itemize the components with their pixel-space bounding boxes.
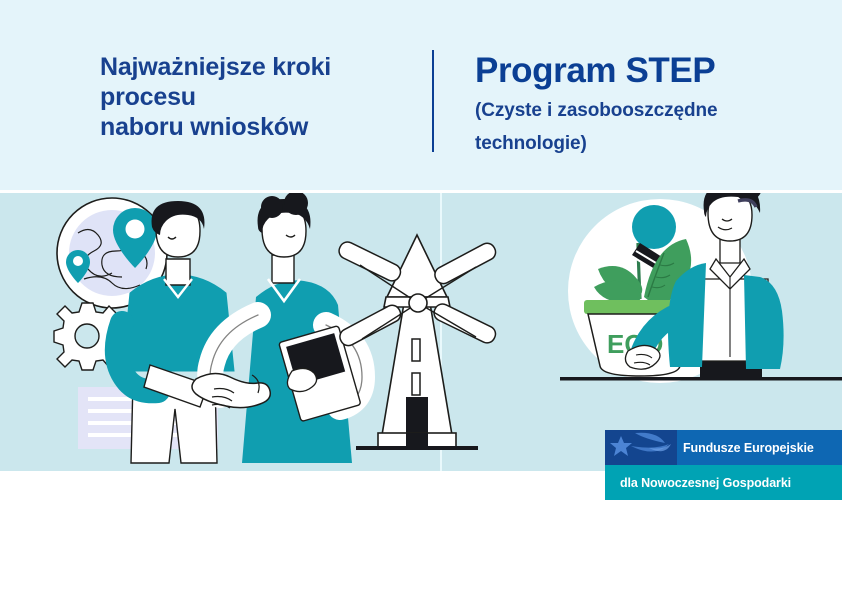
fe-banner-top-band: Fundusze Europejskie xyxy=(605,430,842,465)
program-title: Program STEP xyxy=(475,50,815,92)
title-left-line-3: naboru wniosków xyxy=(100,112,410,142)
eco-scene: ECO xyxy=(560,193,842,383)
fe-banner-line-2: dla Nowoczesnej Gospodarki xyxy=(620,476,791,490)
person-right xyxy=(210,193,362,463)
program-subtitle-line-2: technologie) xyxy=(475,130,815,158)
title-left-line-2: procesu xyxy=(100,82,410,112)
header-section: Najważniejsze kroki procesu naboru wnios… xyxy=(0,0,842,190)
fe-banner-bottom-band: dla Nowoczesnej Gospodarki xyxy=(605,465,842,500)
program-subtitle-line-1: (Czyste i zasobooszczędne xyxy=(475,97,815,125)
fe-banner-line-1: Fundusze Europejskie xyxy=(683,430,814,465)
program-title-block: Program STEP (Czyste i zasobooszczędne t… xyxy=(475,50,815,158)
header-vertical-divider xyxy=(432,50,434,152)
fundusze-europejskie-banner: Fundusze Europejskie dla Nowoczesnej Gos… xyxy=(605,430,842,500)
poster-page: Najważniejsze kroki procesu naboru wnios… xyxy=(0,0,842,595)
title-left-line-1: Najważniejsze kroki xyxy=(100,52,410,82)
eu-stars-motif-icon xyxy=(605,430,677,465)
page-title-left: Najważniejsze kroki procesu naboru wnios… xyxy=(100,52,410,142)
